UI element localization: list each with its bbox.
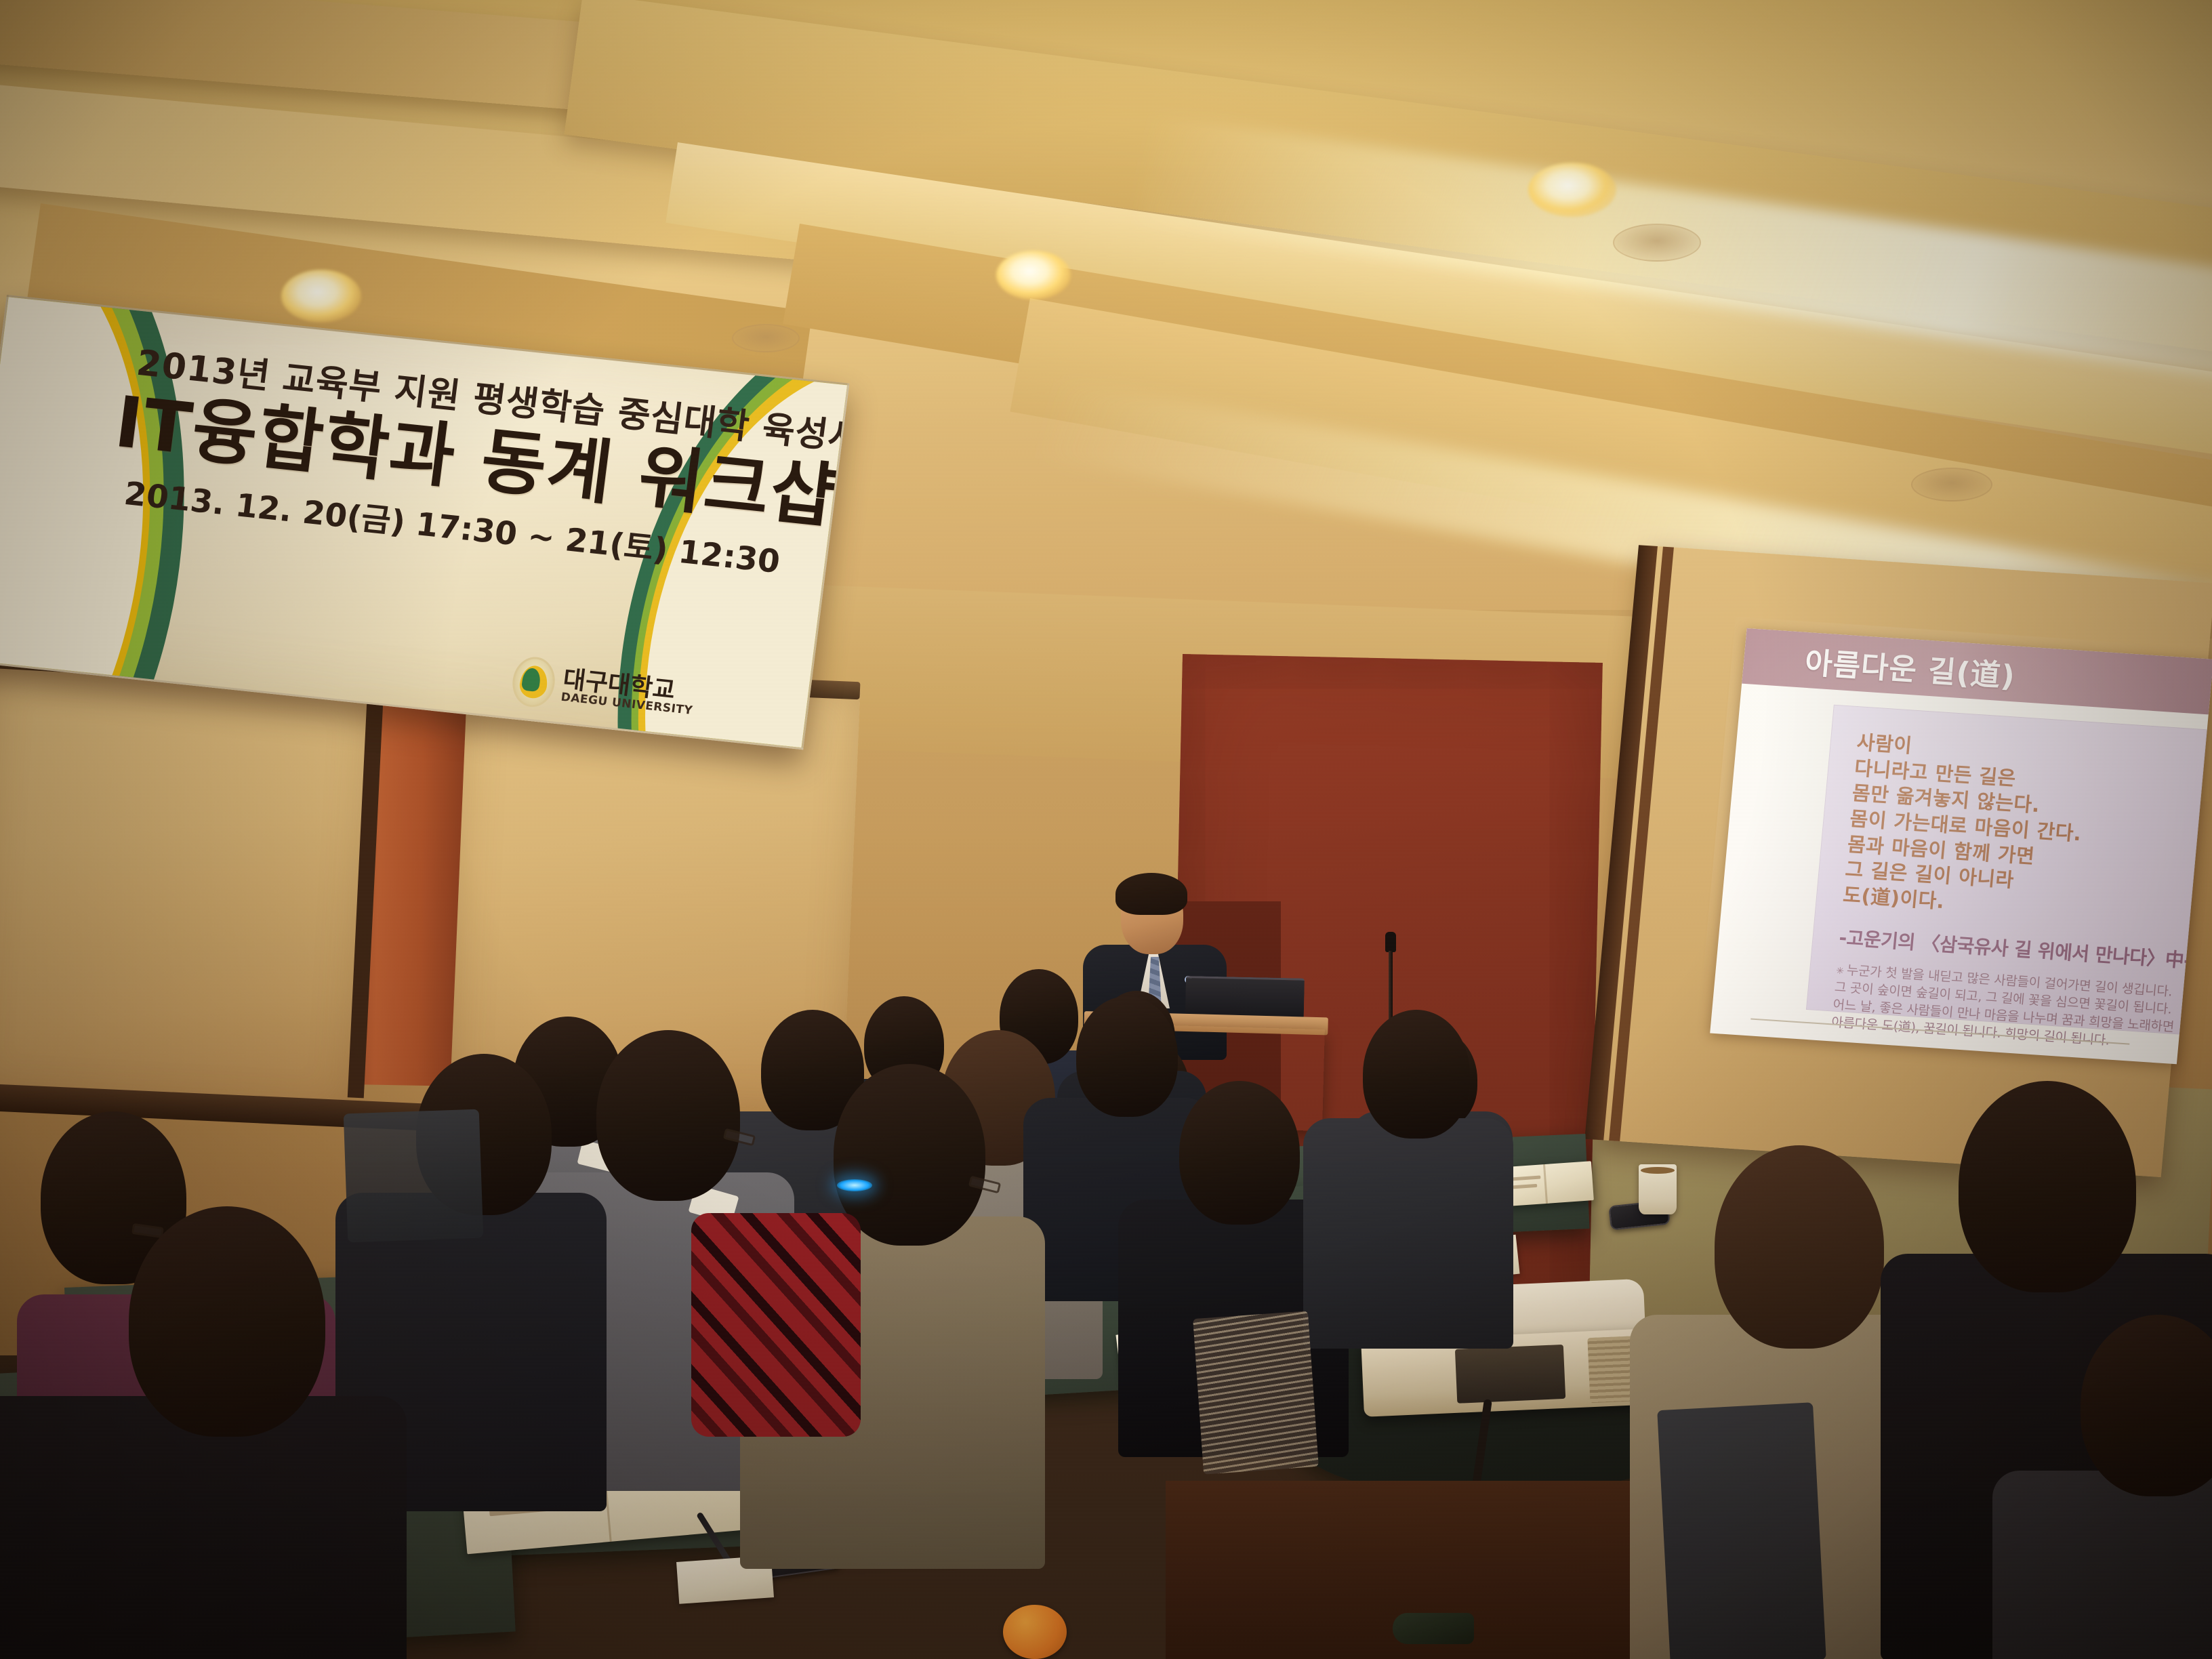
projection-screen: 아름다운 길(道) 사람이 다니라고 만든 길은 몸만 옮겨놓지 않는다. 몸이… <box>1593 546 2212 1177</box>
slide-footnote: 누군가 첫 발을 내딛고 많은 사람들이 걸어가면 길이 생깁니다. 그 곳이 … <box>1830 961 2171 1054</box>
audience-head <box>596 1030 740 1201</box>
conference-room-photo: 2013년 교육부 지원 평생학습 중심대학 육성사업 IT융합학과 동계 워크… <box>0 0 2212 1659</box>
microphone-icon <box>1385 932 1396 952</box>
projector-ports <box>1455 1345 1565 1404</box>
audience-head <box>1076 996 1178 1117</box>
shoe <box>1393 1613 1474 1644</box>
audience-head <box>1715 1145 1884 1349</box>
audience-head <box>1959 1081 2136 1292</box>
audience-head <box>834 1064 985 1246</box>
laptop-on-podium[interactable] <box>1185 976 1305 1019</box>
slide-title-bar: 아름다운 길(道) <box>1742 628 2212 714</box>
chair-back <box>344 1109 484 1243</box>
chair-back-striped <box>1193 1311 1319 1474</box>
audience-torso <box>1303 1118 1513 1349</box>
blue-led-indicator <box>837 1179 872 1191</box>
presenter-hair <box>1115 873 1187 915</box>
recessed-fixture-icon-2 <box>1911 468 1992 501</box>
audience-plaid-scarf <box>691 1213 861 1437</box>
booklet-spine <box>1543 1164 1548 1204</box>
logo-text-block: 대구대학교 DAEGU UNIVERSITY <box>560 667 697 716</box>
chair-back <box>1657 1402 1826 1659</box>
audience-torso <box>1992 1471 2212 1659</box>
recessed-fixture-icon <box>1613 224 1701 262</box>
tangerine <box>1003 1605 1067 1659</box>
audience-head <box>1363 1010 1470 1139</box>
slide-title: 아름다운 길(道) <box>1803 638 2018 695</box>
blank-projection-screen-left <box>0 661 372 1115</box>
audience-head <box>1179 1081 1300 1225</box>
daegu-university-emblem-icon <box>510 655 558 709</box>
ceiling-downlight-3 <box>1528 163 1616 217</box>
ceiling-downlight-1 <box>281 270 361 323</box>
paper-cup[interactable] <box>1639 1164 1677 1214</box>
ceiling-downlight-2 <box>996 251 1071 300</box>
audience-head <box>129 1206 325 1437</box>
recessed-fixture-icon-3 <box>732 324 800 352</box>
presentation-slide: 아름다운 길(道) 사람이 다니라고 만든 길은 몸만 옮겨놓지 않는다. 몸이… <box>1710 628 2212 1064</box>
slide-body: 사람이 다니라고 만든 길은 몸만 옮겨놓지 않는다. 몸이 가는대로 마음이 … <box>1806 705 2207 1035</box>
